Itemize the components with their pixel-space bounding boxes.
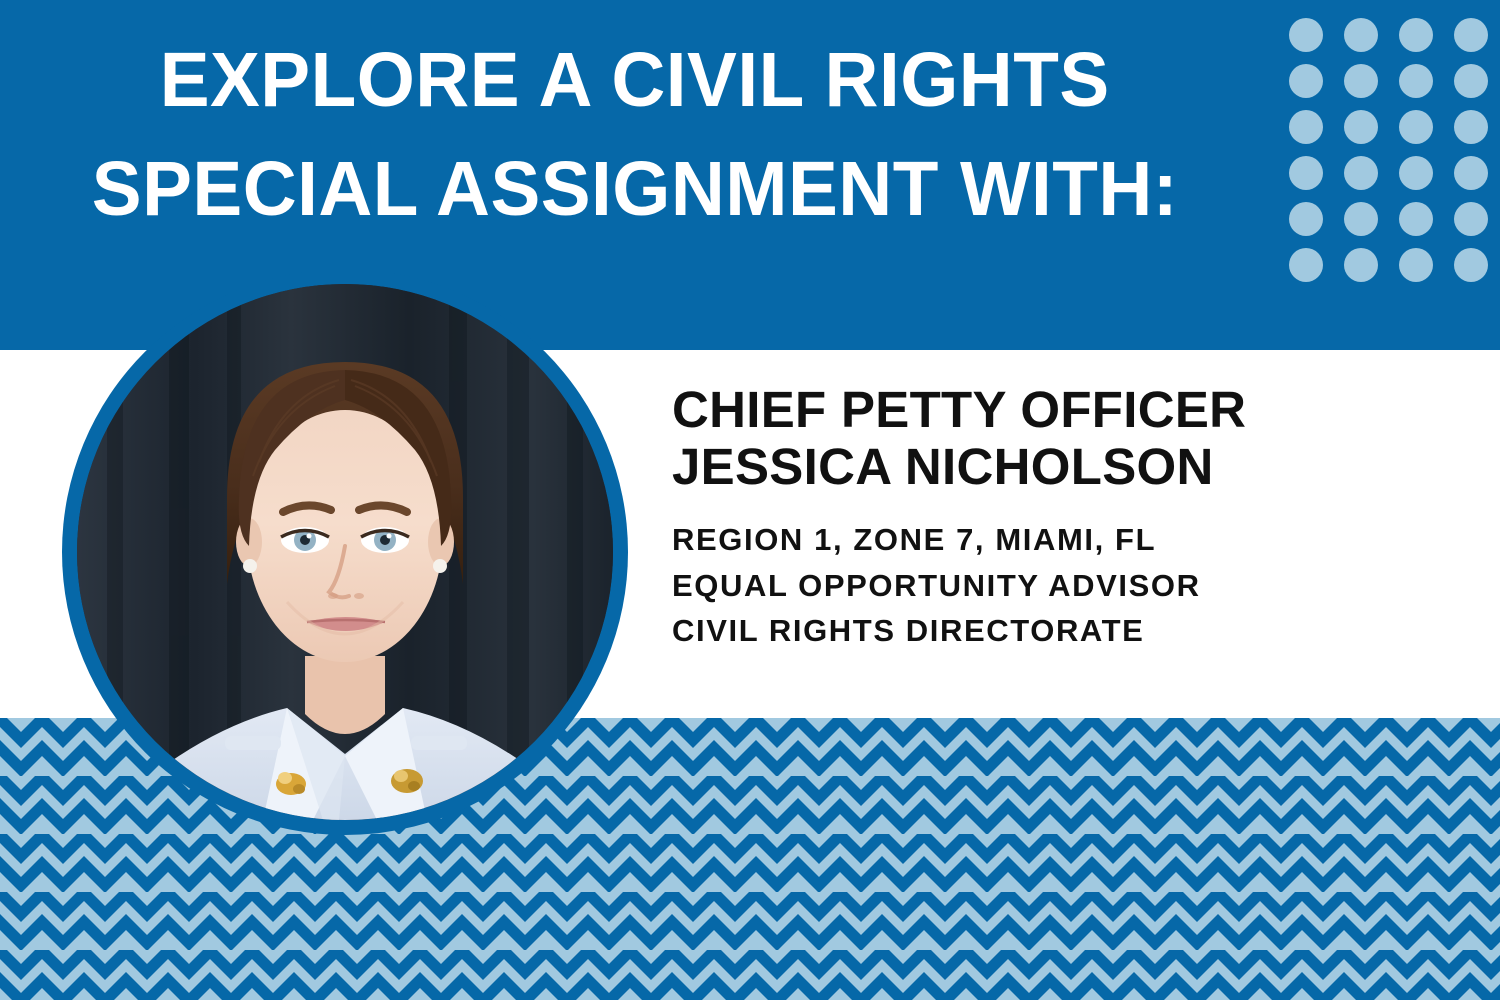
dot-icon — [1399, 202, 1433, 236]
dot-icon — [1399, 18, 1433, 52]
dot-icon — [1289, 156, 1323, 190]
person-directorate-line: CIVIL RIGHTS DIRECTORATE — [672, 608, 1412, 654]
dot-icon — [1454, 18, 1488, 52]
dot-icon — [1344, 248, 1378, 282]
dot-icon — [1344, 156, 1378, 190]
dot-icon — [1399, 248, 1433, 282]
dot-icon — [1399, 110, 1433, 144]
portrait-photo-illustration — [77, 284, 613, 820]
person-rank-line: CHIEF PETTY OFFICER — [672, 381, 1412, 438]
dot-icon — [1289, 110, 1323, 144]
dot-icon — [1454, 156, 1488, 190]
headline: EXPLORE A CIVIL RIGHTS SPECIAL ASSIGNMEN… — [0, 26, 1270, 326]
dot-icon — [1289, 64, 1323, 98]
dot-icon — [1289, 248, 1323, 282]
dot-icon — [1399, 64, 1433, 98]
dot-icon — [1399, 156, 1433, 190]
poster-graphic: EXPLORE A CIVIL RIGHTS SPECIAL ASSIGNMEN… — [0, 0, 1500, 1000]
dot-icon — [1454, 110, 1488, 144]
dot-icon — [1344, 18, 1378, 52]
dot-icon — [1454, 64, 1488, 98]
person-name-line: JESSICA NICHOLSON — [672, 438, 1412, 495]
person-info-block: CHIEF PETTY OFFICER JESSICA NICHOLSON RE… — [672, 381, 1412, 654]
headline-line-1: EXPLORE A CIVIL RIGHTS — [160, 26, 1110, 135]
portrait-circle-frame — [62, 269, 628, 835]
dot-grid-decoration — [1289, 18, 1500, 300]
dot-icon — [1289, 202, 1323, 236]
dot-icon — [1454, 248, 1488, 282]
dot-icon — [1289, 18, 1323, 52]
person-location-line: REGION 1, ZONE 7, MIAMI, FL — [672, 517, 1412, 563]
headline-line-2: SPECIAL ASSIGNMENT WITH: — [92, 135, 1178, 244]
person-role-line: EQUAL OPPORTUNITY ADVISOR — [672, 563, 1412, 609]
dot-icon — [1344, 202, 1378, 236]
avatar — [77, 284, 613, 820]
dot-icon — [1454, 202, 1488, 236]
dot-icon — [1344, 64, 1378, 98]
dot-icon — [1344, 110, 1378, 144]
